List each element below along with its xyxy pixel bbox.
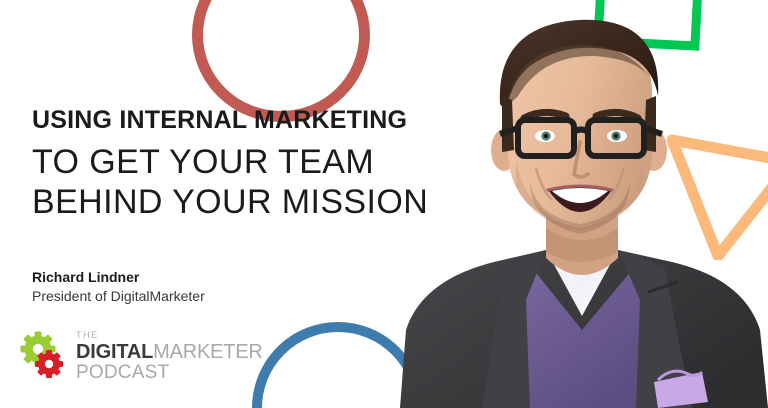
podcast-title-slide: USING INTERNAL MARKETING TO GET YOUR TEA… (0, 0, 768, 408)
speaker-block: Richard Lindner President of DigitalMark… (32, 268, 205, 306)
logo-digitalmarketer-text: DIGITALMARKETER (76, 342, 263, 362)
title-line-3: BEHIND YOUR MISSION (32, 182, 432, 222)
title-line-2: TO GET YOUR TEAM (32, 142, 432, 182)
title-block: USING INTERNAL MARKETING TO GET YOUR TEA… (32, 108, 432, 222)
logo-digital-text: DIGITAL (76, 341, 153, 363)
title-eyebrow: USING INTERNAL MARKETING (32, 108, 432, 133)
logo-marketer-text: MARKETER (153, 341, 263, 363)
speaker-role: President of DigitalMarketer (32, 287, 205, 306)
digitalmarketer-podcast-logo: THE DIGITALMARKETER PODCAST (18, 330, 263, 382)
speaker-name: Richard Lindner (32, 268, 205, 287)
decorative-circle-red-outline (192, 0, 370, 122)
logo-podcast-text: PODCAST (76, 363, 263, 382)
gears-icon (18, 330, 70, 382)
speaker-portrait-photo (396, 0, 768, 408)
logo-the-text: THE (76, 331, 263, 340)
logo-wordmark: THE DIGITALMARKETER PODCAST (76, 331, 263, 382)
